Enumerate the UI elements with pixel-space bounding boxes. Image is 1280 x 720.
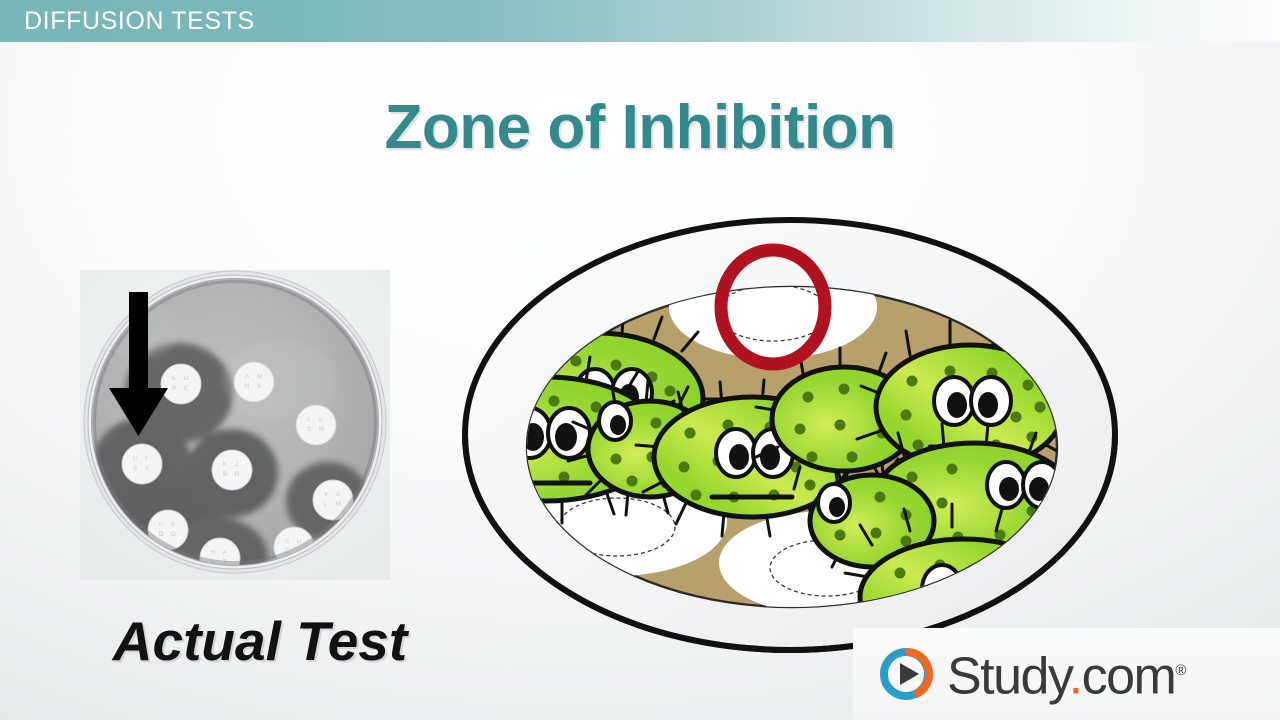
svg-text:S: S [133,466,137,472]
svg-text:E: E [172,376,176,382]
svg-text:R: R [235,472,240,478]
svg-text:A: A [223,550,227,556]
page-title: Zone of Inhibition [0,92,1280,164]
svg-text:B: B [223,472,227,478]
study-com-wordmark: Study.com® [947,643,1186,704]
svg-text:T: T [307,417,311,423]
logo-brand: Study [947,648,1069,706]
bacterium-face [599,402,631,440]
svg-text:R: R [211,550,216,556]
svg-text:A: A [245,374,249,380]
bacterium-face [818,484,850,522]
logo-dot: . [1069,648,1082,706]
svg-text:D: D [184,376,189,382]
svg-text:F: F [145,456,149,462]
cartoon-petri-dish-illustration [440,185,1140,685]
svg-text:A: A [336,492,340,498]
actual-test-panel: ED PC AM NS [60,255,460,695]
svg-text:G: G [307,427,312,433]
svg-text:S: S [257,384,261,390]
svg-text:K: K [223,462,227,468]
svg-text:C: C [133,456,138,462]
logo-tld: com [1082,648,1176,706]
actual-test-caption: Actual Test [60,610,460,672]
svg-text:P: P [172,386,176,392]
header-title: DIFFUSION TESTS [24,5,255,37]
svg-text:P: P [159,522,163,528]
svg-text:O: O [171,532,176,538]
svg-text:B: B [171,522,175,528]
svg-text:X: X [145,466,149,472]
svg-text:M: M [257,374,262,380]
svg-text:D: D [159,532,164,538]
svg-text:M: M [319,427,324,433]
svg-text:Z: Z [235,462,239,468]
actual-test-photo: ED PC AM NS [80,270,390,580]
registered-trademark-icon: ® [1175,662,1186,679]
play-circle-icon [877,645,935,703]
svg-text:N: N [245,384,249,390]
svg-text:V: V [324,492,328,498]
svg-text:U: U [297,539,301,545]
slide-root: DIFFUSION TESTS Zone of Inhibition [0,0,1280,720]
svg-text:C: C [184,386,189,392]
svg-text:M: M [336,502,341,508]
study-com-logo[interactable]: Study.com® [853,628,1280,720]
header-bar: DIFFUSION TESTS [0,0,1280,42]
svg-text:S: S [285,539,289,545]
svg-text:E: E [319,417,323,423]
